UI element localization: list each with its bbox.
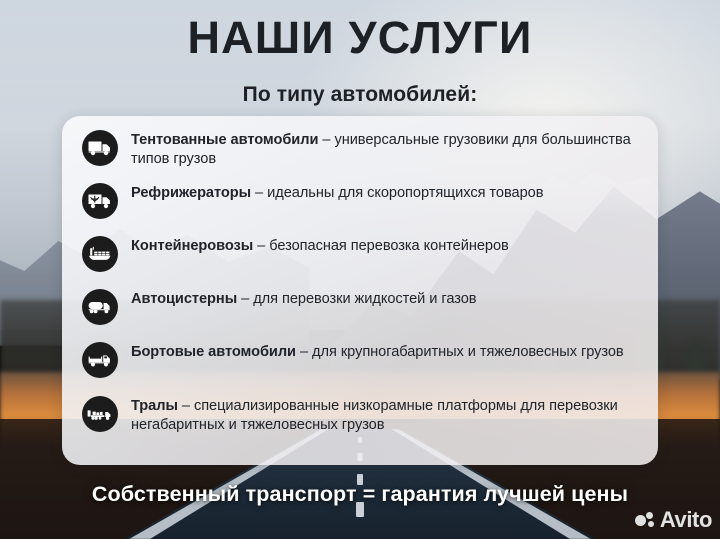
page-title: НАШИ УСЛУГИ bbox=[0, 14, 720, 61]
list-item: Тентованные автомобили – универсальные г… bbox=[82, 129, 642, 182]
list-item: Тралы – специализированные низкорамные п… bbox=[82, 395, 642, 449]
footer-tagline: Собственный транспорт = гарантия лучшей … bbox=[0, 482, 720, 507]
list-item: Бортовые автомобили – для крупногабаритн… bbox=[82, 341, 642, 395]
list-item-text: Контейнеровозы – безопасная перевозка ко… bbox=[131, 235, 509, 256]
service-name: Тралы bbox=[131, 398, 178, 414]
service-name: Автоцистерны bbox=[131, 291, 237, 307]
service-name: Бортовые автомобили bbox=[131, 344, 296, 360]
list-item: Рефрижераторы – идеальны для скоропортящ… bbox=[82, 182, 642, 235]
service-separator: – bbox=[251, 185, 267, 201]
container-ship-icon bbox=[82, 236, 118, 272]
list-item-text: Рефрижераторы – идеальны для скоропортящ… bbox=[131, 182, 543, 203]
list-item-text: Автоцистерны – для перевозки жидкостей и… bbox=[131, 288, 477, 309]
service-description: безопасная перевозка контейнеров bbox=[269, 238, 509, 254]
service-name: Рефрижераторы bbox=[131, 185, 251, 201]
service-separator: – bbox=[318, 132, 334, 148]
list-item-text: Тентованные автомобили – универсальные г… bbox=[131, 129, 642, 168]
list-item: Контейнеровозы – безопасная перевозка ко… bbox=[82, 235, 642, 288]
avito-logo-icon bbox=[635, 511, 657, 529]
service-description: специализированные низкорамные платформы… bbox=[131, 398, 618, 433]
service-separator: – bbox=[296, 344, 312, 360]
service-description: для перевозки жидкостей и газов bbox=[253, 291, 476, 307]
list-item-text: Бортовые автомобили – для крупногабаритн… bbox=[131, 341, 624, 362]
lowboy-trailer-icon bbox=[82, 396, 118, 432]
tanker-truck-icon bbox=[82, 289, 118, 325]
list-item: Автоцистерны – для перевозки жидкостей и… bbox=[82, 288, 642, 341]
refrigerated-truck-icon bbox=[82, 183, 118, 219]
services-card: Тентованные автомобили – универсальные г… bbox=[62, 116, 658, 465]
service-description: идеальны для скоропортящихся товаров bbox=[267, 185, 543, 201]
service-separator: – bbox=[178, 398, 194, 414]
service-separator: – bbox=[237, 291, 253, 307]
services-list: Тентованные автомобили – универсальные г… bbox=[62, 116, 658, 465]
list-item-text: Тралы – специализированные низкорамные п… bbox=[131, 395, 642, 434]
avito-wordmark: Avito bbox=[660, 507, 712, 533]
page-subtitle: По типу автомобилей: bbox=[0, 83, 720, 107]
avito-watermark: Avito bbox=[635, 507, 712, 533]
services-poster: НАШИ УСЛУГИ По типу автомобилей: Тентова… bbox=[0, 0, 720, 539]
service-separator: – bbox=[253, 238, 269, 254]
service-name: Контейнеровозы bbox=[131, 238, 253, 254]
service-name: Тентованные автомобили bbox=[131, 132, 318, 148]
flatbed-truck-icon bbox=[82, 342, 118, 378]
service-description: для крупногабаритных и тяжеловесных груз… bbox=[312, 344, 624, 360]
box-truck-icon bbox=[82, 130, 118, 166]
